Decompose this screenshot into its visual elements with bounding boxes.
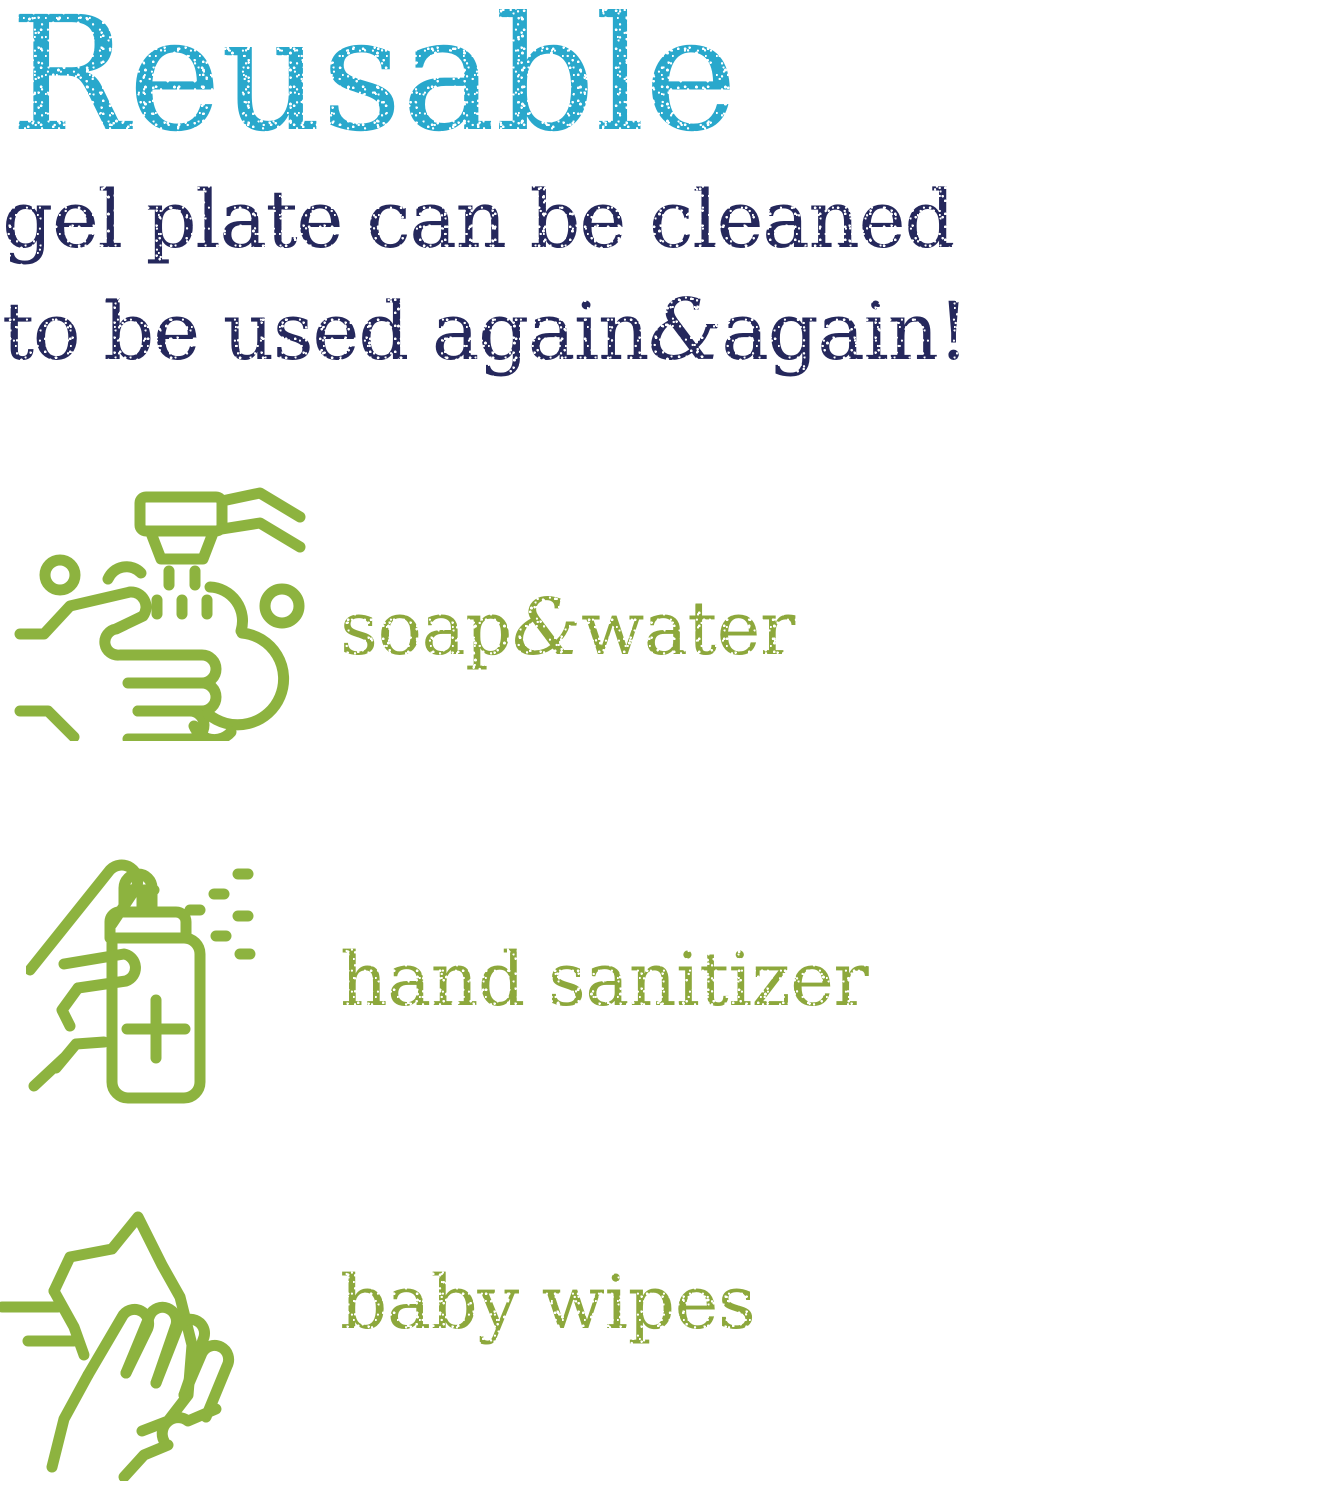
subtitle-line-2: to be used again&again! <box>0 261 1336 373</box>
subtitle-ampersand: & <box>648 289 721 372</box>
hand-wiping-cloth-icon <box>0 1205 318 1481</box>
header-block: Reusable gel plate can be cleaned to be … <box>0 0 1336 373</box>
method-row-baby-wipes: baby wipes <box>0 1160 1336 1490</box>
method-label-soap-water: soap&water <box>340 589 795 668</box>
method-label-baby-wipes-text: baby wipes <box>340 1264 755 1342</box>
cleaning-methods-list: soap&water <box>0 440 1336 1490</box>
subtitle-line-2-before-ampersand: to be used again <box>2 290 648 373</box>
hand-sanitizer-pump-bottle-icon <box>0 846 328 1114</box>
method-label-hand-sanitizer-text: hand sanitizer <box>340 941 868 1019</box>
page-title: Reusable <box>0 0 1336 150</box>
method-label-soap-water-ampersand: & <box>512 589 581 667</box>
page-title-text: Reusable <box>10 0 737 150</box>
subtitle-line-2-after-ampersand: again! <box>721 290 968 373</box>
method-row-soap-water: soap&water <box>0 440 1336 800</box>
method-row-hand-sanitizer: hand sanitizer <box>0 800 1336 1160</box>
method-label-soap-water-after-ampersand: water <box>581 590 795 668</box>
method-label-soap-water-before-ampersand: soap <box>340 590 512 668</box>
method-label-baby-wipes: baby wipes <box>340 1264 755 1342</box>
method-label-hand-sanitizer: hand sanitizer <box>340 941 868 1019</box>
hand-washing-faucet-icon <box>0 479 332 741</box>
subtitle-line-1-text: gel plate can be cleaned <box>2 178 954 261</box>
